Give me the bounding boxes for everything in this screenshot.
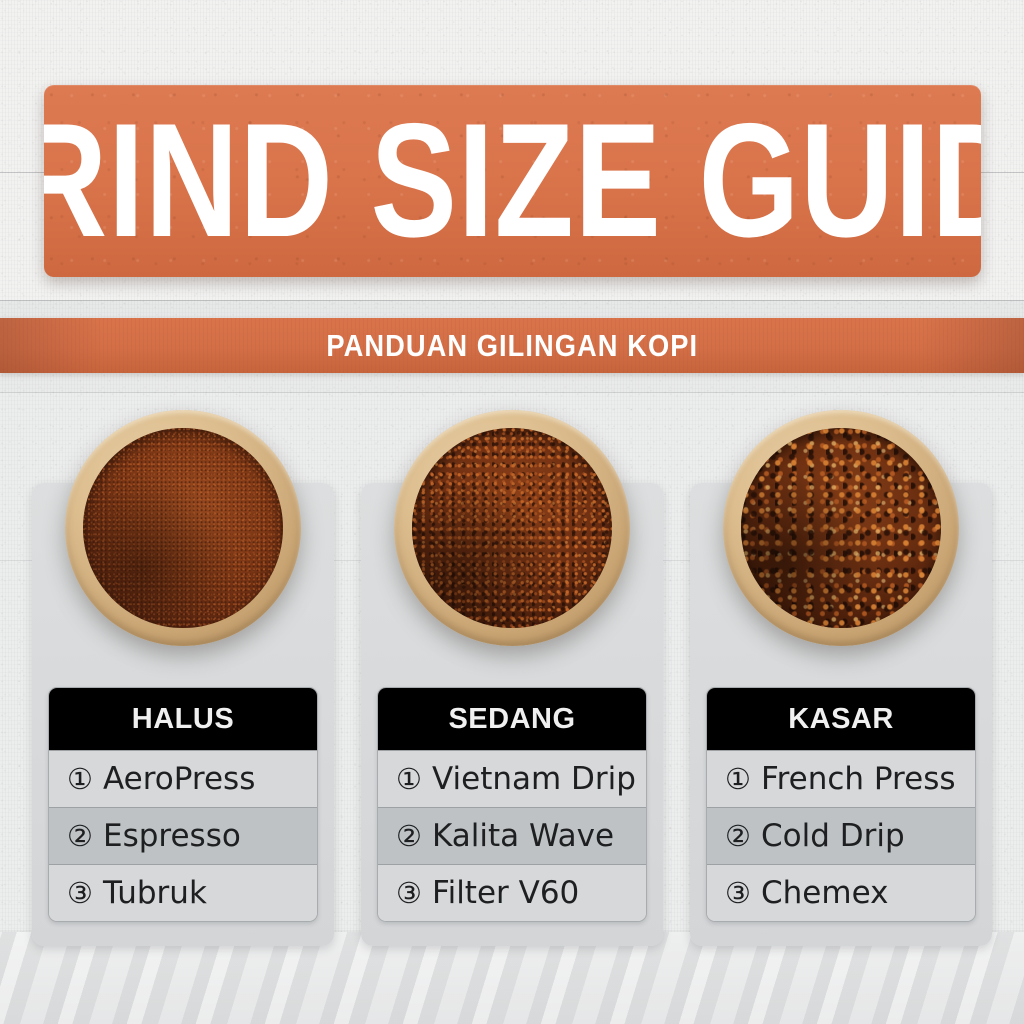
brew-method-label: AeroPress xyxy=(103,761,255,797)
brew-method-label: Espresso xyxy=(103,818,241,854)
coffee-grounds-fine-icon xyxy=(83,428,283,628)
grind-card[interactable]: SEDANG①Vietnam Drip②Kalita Wave③Filter V… xyxy=(361,483,663,946)
brew-method-label: Filter V60 xyxy=(432,875,579,911)
coffee-bowl xyxy=(723,410,959,646)
brew-method-row[interactable]: ②Espresso xyxy=(49,807,317,864)
circled-number-icon: ② xyxy=(396,819,432,853)
grind-cards-container: HALUS①AeroPress②Espresso③TubrukSEDANG①Vi… xyxy=(32,483,992,946)
brew-method-row[interactable]: ③Filter V60 xyxy=(378,864,646,921)
coffee-bowl xyxy=(394,410,630,646)
circled-number-icon: ② xyxy=(725,819,761,853)
plank-seam-line xyxy=(0,300,1024,301)
brew-method-label: Vietnam Drip xyxy=(432,761,636,797)
circled-number-icon: ③ xyxy=(725,876,761,910)
circled-number-icon: ③ xyxy=(396,876,432,910)
page-subtitle: PANDUAN GILINGAN KOPI xyxy=(326,328,698,364)
brew-method-row[interactable]: ③Chemex xyxy=(707,864,975,921)
brew-method-label: Tubruk xyxy=(103,875,207,911)
circled-number-icon: ② xyxy=(67,819,103,853)
brew-method-row[interactable]: ①French Press xyxy=(707,750,975,807)
grind-card[interactable]: KASAR①French Press②Cold Drip③Chemex xyxy=(690,483,992,946)
brew-method-row[interactable]: ①AeroPress xyxy=(49,750,317,807)
brew-method-row[interactable]: ③Tubruk xyxy=(49,864,317,921)
title-banner: GRIND SIZE GUIDE xyxy=(44,85,981,277)
grind-card-header: SEDANG xyxy=(378,688,646,750)
brew-method-row[interactable]: ①Vietnam Drip xyxy=(378,750,646,807)
brew-method-label: Chemex xyxy=(761,875,888,911)
brew-method-row[interactable]: ②Cold Drip xyxy=(707,807,975,864)
circled-number-icon: ① xyxy=(725,762,761,796)
brew-method-label: French Press xyxy=(761,761,956,797)
brew-method-label: Kalita Wave xyxy=(432,818,614,854)
poster-root: GRIND SIZE GUIDE PANDUAN GILINGAN KOPI H… xyxy=(0,0,1024,1024)
grind-card-header: KASAR xyxy=(707,688,975,750)
coffee-bowl xyxy=(65,410,301,646)
coffee-grounds-coarse-icon xyxy=(741,428,941,628)
grind-list-block: SEDANG①Vietnam Drip②Kalita Wave③Filter V… xyxy=(377,687,647,922)
grind-list-block: KASAR①French Press②Cold Drip③Chemex xyxy=(706,687,976,922)
circled-number-icon: ① xyxy=(396,762,432,796)
grind-card-header: HALUS xyxy=(49,688,317,750)
subtitle-band: PANDUAN GILINGAN KOPI xyxy=(0,318,1024,373)
grind-card[interactable]: HALUS①AeroPress②Espresso③Tubruk xyxy=(32,483,334,946)
coffee-grounds-medium-icon xyxy=(412,428,612,628)
plank-seam-line xyxy=(0,392,1024,393)
brew-method-row[interactable]: ②Kalita Wave xyxy=(378,807,646,864)
page-title: GRIND SIZE GUIDE xyxy=(44,111,981,250)
circled-number-icon: ① xyxy=(67,762,103,796)
grind-list-block: HALUS①AeroPress②Espresso③Tubruk xyxy=(48,687,318,922)
brew-method-label: Cold Drip xyxy=(761,818,905,854)
circled-number-icon: ③ xyxy=(67,876,103,910)
